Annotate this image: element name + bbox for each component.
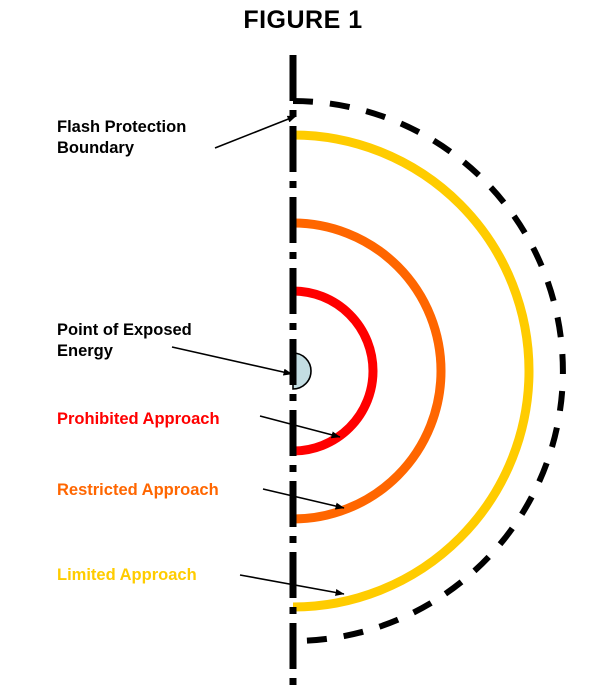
figure-container: FIGURE 1 Flash Protection Boundary Point… — [0, 0, 606, 695]
limited-approach-arc — [293, 135, 529, 607]
restricted-approach-arc — [293, 223, 441, 519]
leader-line-prohibited-approach — [260, 416, 340, 437]
label-prohibited-approach: Prohibited Approach — [57, 409, 220, 430]
label-restricted-approach: Restricted Approach — [57, 480, 219, 501]
label-point-of-exposed-energy: Point of Exposed Energy — [57, 320, 192, 363]
leader-line-restricted-approach — [263, 489, 344, 508]
label-limited-approach: Limited Approach — [57, 565, 197, 586]
label-flash-protection-boundary: Flash Protection Boundary — [57, 117, 186, 160]
leader-line-flash-protection-boundary — [215, 116, 296, 148]
